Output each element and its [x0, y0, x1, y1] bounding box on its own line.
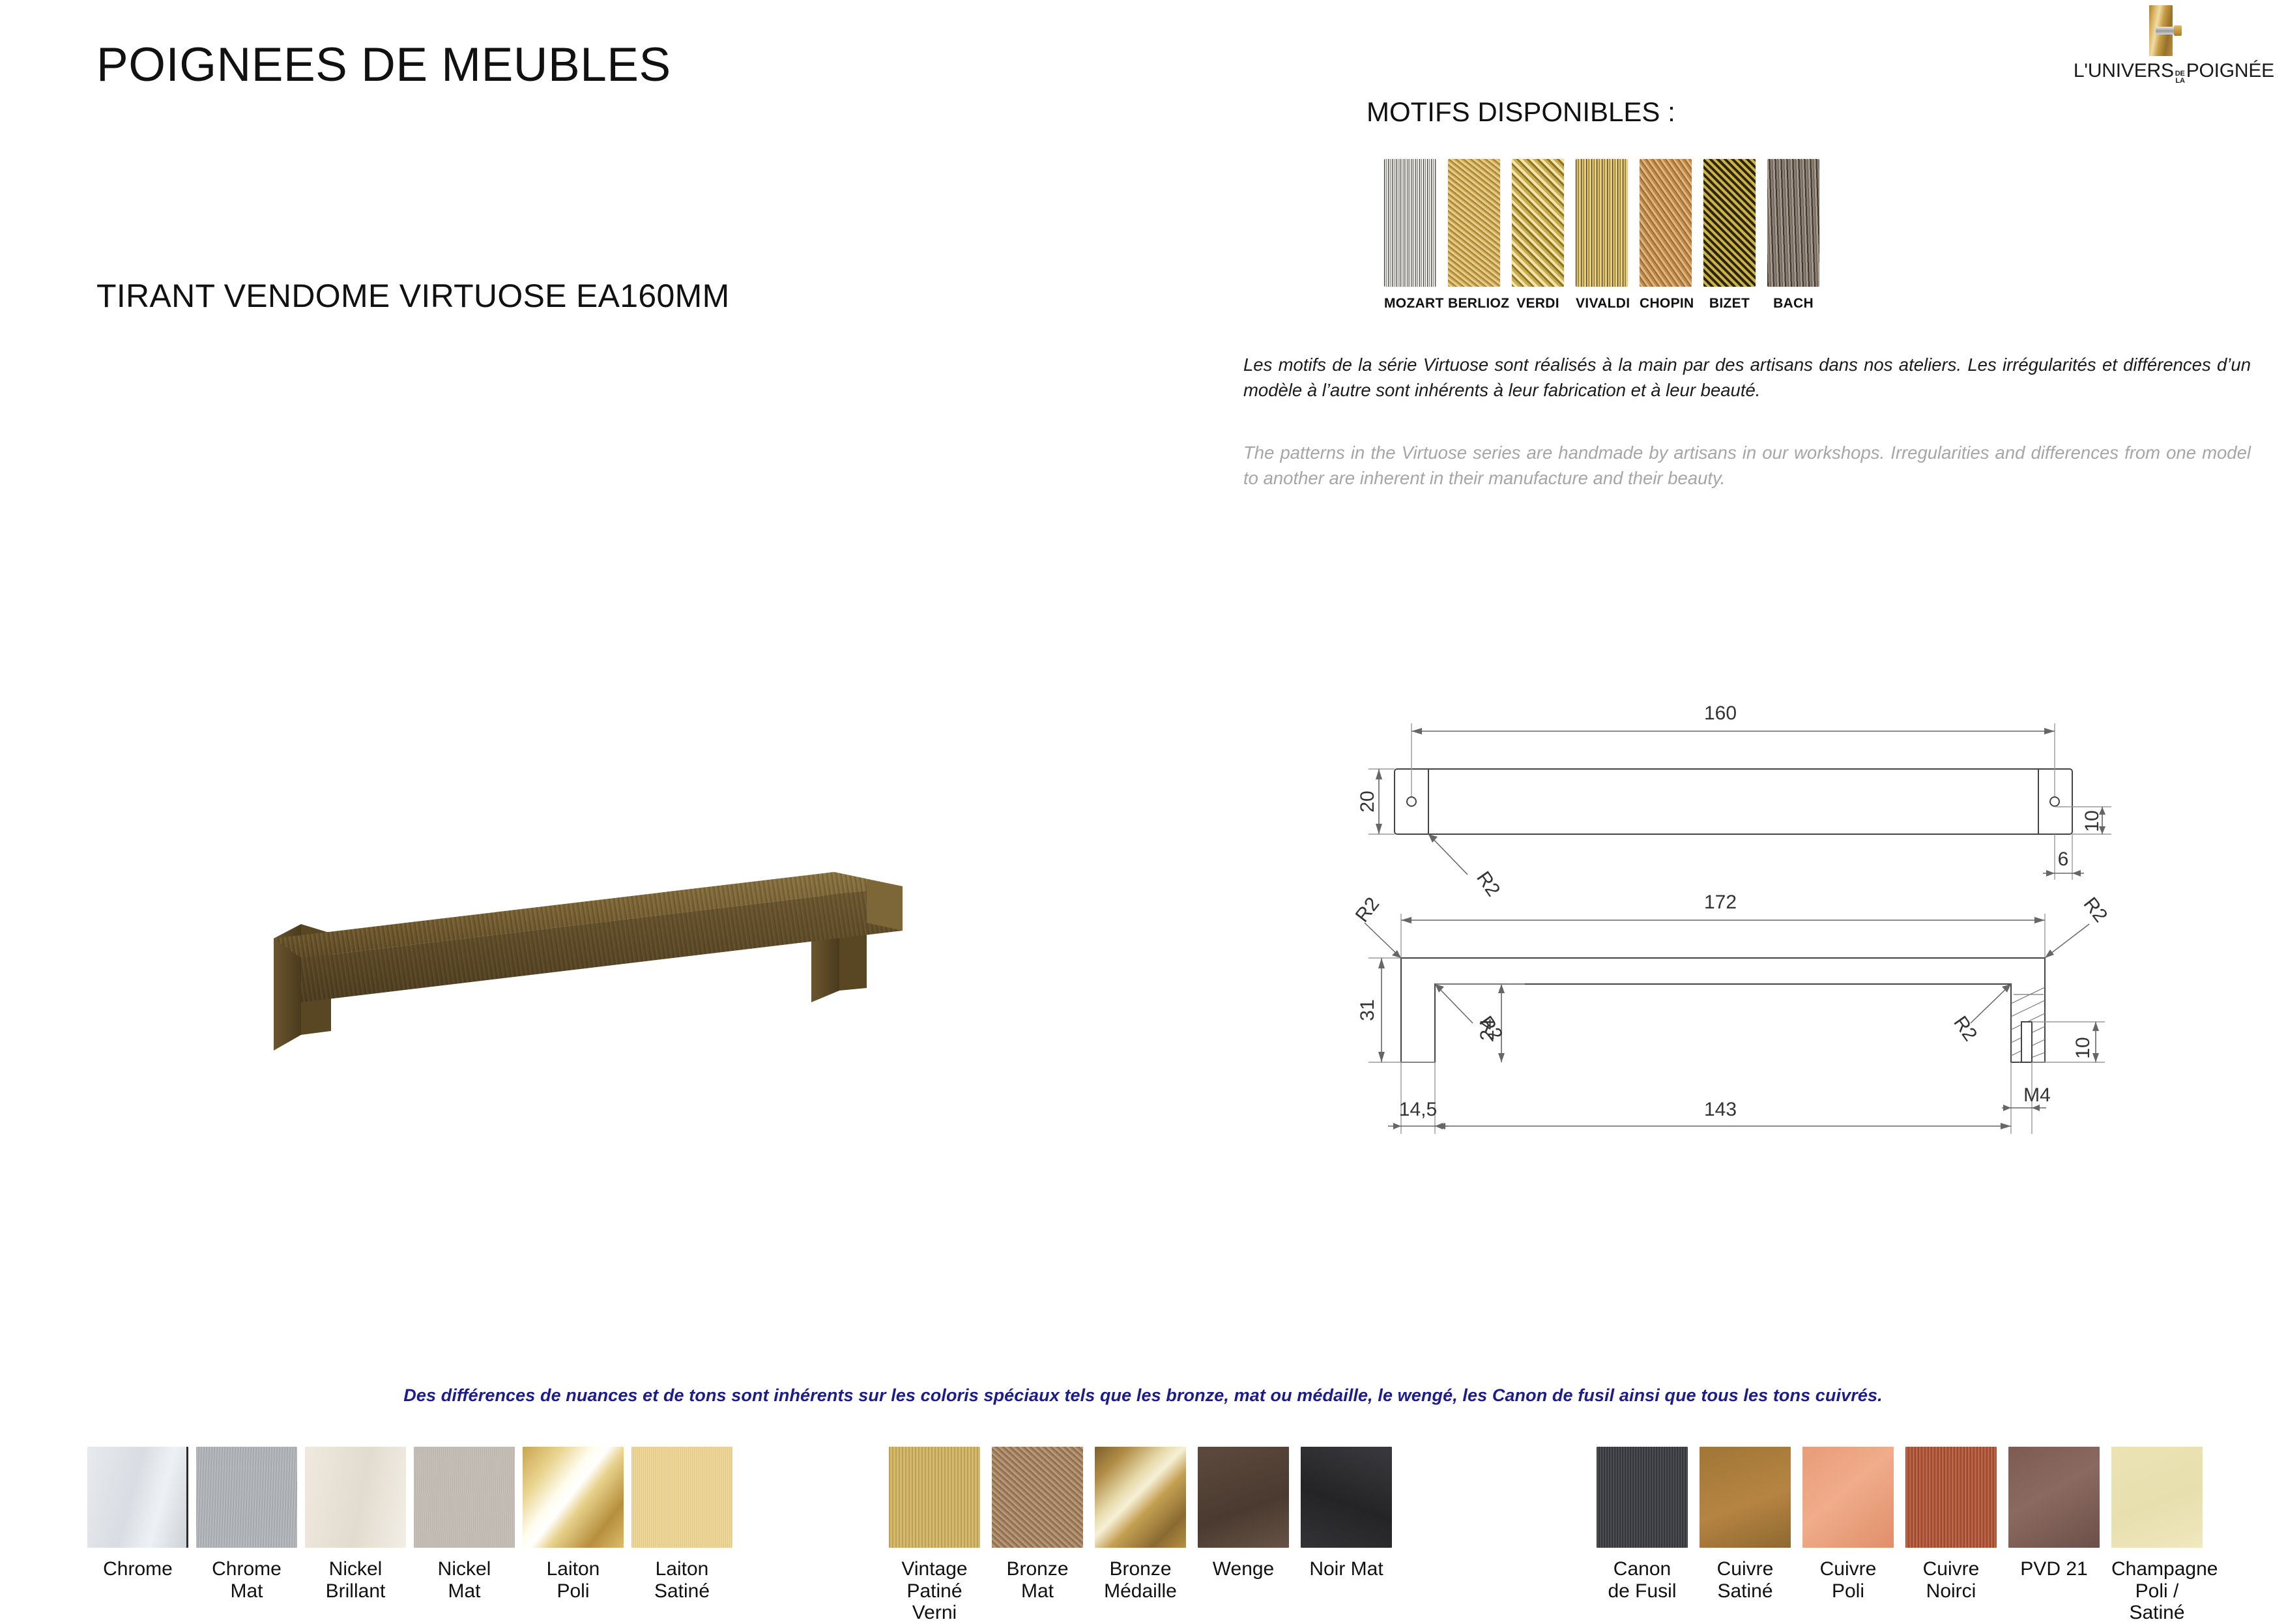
finish-label-line1: Canon — [1597, 1558, 1688, 1580]
finish-item[interactable]: Wenge — [1198, 1447, 1289, 1580]
dim-10-top: 10 — [2081, 810, 2103, 832]
finish-label: Noir Mat — [1301, 1558, 1392, 1580]
finish-item[interactable]: Canonde Fusil — [1597, 1447, 1688, 1602]
product-title: TIRANT VENDOME VIRTUOSE EA160MM — [96, 277, 730, 315]
motif-swatch[interactable] — [1384, 159, 1436, 287]
finish-label: LaitonSatiné — [631, 1558, 732, 1602]
finish-swatch[interactable] — [1597, 1447, 1688, 1548]
dim-6: 6 — [2058, 848, 2069, 870]
finish-label-line2: Brillant — [305, 1580, 406, 1602]
finish-item[interactable]: LaitonSatiné — [631, 1447, 732, 1602]
technical-drawings: 160 20 10 6 R2 172 31 24 14,5 143 10 M4 … — [1355, 684, 2124, 1180]
dim-20: 20 — [1357, 790, 1378, 812]
motif-item[interactable]: BERLIOZ — [1448, 159, 1500, 312]
brand-name: L'UNIVERSDELAPOIGNÉE — [2014, 60, 2274, 85]
motif-label: MOZART — [1384, 296, 1436, 312]
motif-item[interactable]: BIZET — [1703, 159, 1756, 312]
finish-label-line1: Laiton — [631, 1558, 732, 1580]
motif-swatch[interactable] — [1512, 159, 1564, 287]
finish-label-line1: Nickel — [305, 1558, 406, 1580]
finish-label-line1: Nickel — [414, 1558, 515, 1580]
finish-label-line2: Verni — [889, 1602, 980, 1624]
finish-label: ChampagnePoli / Satiné — [2111, 1558, 2203, 1624]
motif-item[interactable]: VERDI — [1512, 159, 1564, 312]
top-view-body — [1395, 769, 2072, 834]
finish-label-line2: Poli — [1802, 1580, 1894, 1602]
finish-item[interactable]: CuivrePoli — [1802, 1447, 1894, 1602]
finish-label-line2: Mat — [992, 1580, 1083, 1602]
finish-label-line2: de Fusil — [1597, 1580, 1688, 1602]
motif-swatch[interactable] — [1767, 159, 1819, 287]
finish-swatch[interactable] — [523, 1447, 624, 1548]
motif-swatch-row: MOZARTBERLIOZVERDIVIVALDICHOPINBIZETBACH — [1384, 159, 1819, 312]
finish-swatch[interactable] — [305, 1447, 406, 1548]
finish-label-line1: Cuivre — [1905, 1558, 1997, 1580]
finish-label-line1: Bronze — [1095, 1558, 1186, 1580]
finish-item[interactable]: CuivreNoirci — [1905, 1447, 1997, 1602]
finish-label-line1: Chrome — [87, 1558, 188, 1580]
finish-label-line2: Poli — [523, 1580, 624, 1602]
motif-label: VIVALDI — [1576, 296, 1628, 312]
finish-swatch[interactable] — [196, 1447, 297, 1548]
finish-swatch[interactable] — [2008, 1447, 2100, 1548]
motif-item[interactable]: CHOPIN — [1640, 159, 1692, 312]
motif-swatch[interactable] — [1640, 159, 1692, 287]
dim-31: 31 — [1357, 999, 1378, 1021]
finish-swatch[interactable] — [1700, 1447, 1791, 1548]
finish-swatch[interactable] — [87, 1447, 188, 1548]
finish-label: Chrome — [87, 1558, 188, 1580]
dim-r2-side-left: R2 — [1355, 893, 1383, 927]
motif-item[interactable]: VIVALDI — [1576, 159, 1628, 312]
handle-knob-shape — [2174, 25, 2182, 36]
finish-swatch[interactable] — [1301, 1447, 1392, 1548]
finish-swatch[interactable] — [1905, 1447, 1997, 1548]
dim-143: 143 — [1704, 1099, 1737, 1120]
finish-label: LaitonPoli — [523, 1558, 624, 1602]
finish-swatch[interactable] — [889, 1447, 980, 1548]
finish-label: BronzeMat — [992, 1558, 1083, 1602]
brand-logo: L'UNIVERSDELAPOIGNÉE — [2014, 5, 2274, 85]
finish-label-line1: Laiton — [523, 1558, 624, 1580]
brand-name-small-stack: DELA — [2175, 70, 2185, 85]
finish-label-line2: Noirci — [1905, 1580, 1997, 1602]
finish-swatch[interactable] — [992, 1447, 1083, 1548]
finish-item[interactable]: NickelBrillant — [305, 1447, 406, 1602]
finish-label-line1: Champagne — [2111, 1558, 2203, 1580]
finish-item[interactable]: NickelMat — [414, 1447, 515, 1602]
motif-item[interactable]: BACH — [1767, 159, 1819, 312]
finish-swatch[interactable] — [1095, 1447, 1186, 1548]
finish-label: Canonde Fusil — [1597, 1558, 1688, 1602]
motif-swatch[interactable] — [1576, 159, 1628, 287]
finish-label: ChromeMat — [196, 1558, 297, 1602]
handle-illustration — [261, 860, 919, 1056]
motif-label: BACH — [1767, 296, 1819, 312]
finish-item[interactable]: BronzeMédaille — [1095, 1447, 1186, 1602]
finish-swatch[interactable] — [631, 1447, 732, 1548]
finish-label: NickelMat — [414, 1558, 515, 1602]
dim-r2-top: R2 — [1472, 867, 1504, 900]
motif-label: VERDI — [1512, 296, 1564, 312]
brand-name-small-bottom: LA — [2175, 78, 2185, 85]
finish-group-special: Canonde FusilCuivreSatinéCuivrePoliCuivr… — [1597, 1447, 2203, 1624]
finish-label-line2: Satiné — [631, 1580, 732, 1602]
dim-r2-side-right: R2 — [2079, 893, 2112, 927]
finish-label-line2: Médaille — [1095, 1580, 1186, 1602]
technical-drawing-svg: 160 20 10 6 R2 172 31 24 14,5 143 10 M4 … — [1355, 684, 2124, 1180]
finish-label-line2: Poli / Satiné — [2111, 1580, 2203, 1624]
finish-label: CuivreSatiné — [1700, 1558, 1791, 1602]
finish-label-line1: PVD 21 — [2008, 1558, 2100, 1580]
finish-label: BronzeMédaille — [1095, 1558, 1186, 1602]
dim-160: 160 — [1704, 703, 1737, 724]
finish-label: CuivreNoirci — [1905, 1558, 1997, 1602]
finish-label-line1: Wenge — [1198, 1558, 1289, 1580]
finish-label-line2: Mat — [196, 1580, 297, 1602]
finish-item[interactable]: Chrome — [87, 1447, 188, 1580]
finish-label: Wenge — [1198, 1558, 1289, 1580]
finish-group-standard: ChromeChromeMatNickelBrillantNickelMatLa… — [87, 1447, 732, 1602]
finish-label-line1: Cuivre — [1802, 1558, 1894, 1580]
finish-item[interactable]: ChromeMat — [196, 1447, 297, 1602]
side-view-body — [1401, 958, 2045, 1062]
finish-label-line1: Chrome — [196, 1558, 297, 1580]
finish-label: Vintage PatinéVerni — [889, 1558, 980, 1624]
motif-label: CHOPIN — [1640, 296, 1692, 312]
finish-item[interactable]: BronzeMat — [992, 1447, 1083, 1602]
handle-right-cap — [867, 880, 903, 931]
finish-swatch[interactable] — [414, 1447, 515, 1548]
product-photo — [261, 860, 919, 1056]
finish-label: PVD 21 — [2008, 1558, 2100, 1580]
finish-item[interactable]: Vintage PatinéVerni — [889, 1447, 980, 1624]
door-handle-icon — [2144, 5, 2180, 56]
motif-label: BIZET — [1703, 296, 1756, 312]
motif-label: BERLIOZ — [1448, 296, 1500, 312]
finish-item[interactable]: CuivreSatiné — [1700, 1447, 1791, 1602]
finish-label-line1: Noir Mat — [1301, 1558, 1392, 1580]
motif-swatch[interactable] — [1448, 159, 1500, 287]
finish-item[interactable]: ChampagnePoli / Satiné — [2111, 1447, 2203, 1624]
brand-name-part2: POIGNÉE — [2186, 60, 2274, 81]
page-title: POIGNEES DE MEUBLES — [96, 38, 671, 92]
motif-description-fr: Les motifs de la série Virtuose sont réa… — [1243, 352, 2251, 403]
motif-swatch[interactable] — [1703, 159, 1756, 287]
finish-item[interactable]: Noir Mat — [1301, 1447, 1392, 1580]
dim-10-side: 10 — [2072, 1037, 2094, 1058]
dim-172: 172 — [1704, 892, 1737, 913]
finish-swatch[interactable] — [2111, 1447, 2203, 1548]
finish-label: NickelBrillant — [305, 1558, 406, 1602]
dim-m4: M4 — [2023, 1084, 2051, 1106]
finish-swatch[interactable] — [1198, 1447, 1289, 1548]
finish-item[interactable]: PVD 21 — [2008, 1447, 2100, 1580]
motif-item[interactable]: MOZART — [1384, 159, 1436, 312]
finish-label-line1: Bronze — [992, 1558, 1083, 1580]
finish-label-line1: Vintage Patiné — [889, 1558, 980, 1602]
brand-name-part1: L'UNIVERS — [2074, 60, 2174, 81]
motif-description-en: The patterns in the Virtuose series are … — [1243, 440, 2251, 491]
finish-disclaimer: Des différences de nuances et de tons so… — [0, 1385, 2286, 1406]
finish-label-line1: Cuivre — [1700, 1558, 1791, 1580]
finish-label-line2: Satiné — [1700, 1580, 1791, 1602]
motifs-heading: MOTIFS DISPONIBLES : — [1367, 96, 1675, 128]
finish-swatch[interactable] — [1802, 1447, 1894, 1548]
finish-group-bronze: Vintage PatinéVerniBronzeMatBronzeMédail… — [889, 1447, 1392, 1624]
dim-14-5: 14,5 — [1399, 1099, 1437, 1120]
finish-item[interactable]: LaitonPoli — [523, 1447, 624, 1602]
finish-label: CuivrePoli — [1802, 1558, 1894, 1602]
finish-label-line2: Mat — [414, 1580, 515, 1602]
